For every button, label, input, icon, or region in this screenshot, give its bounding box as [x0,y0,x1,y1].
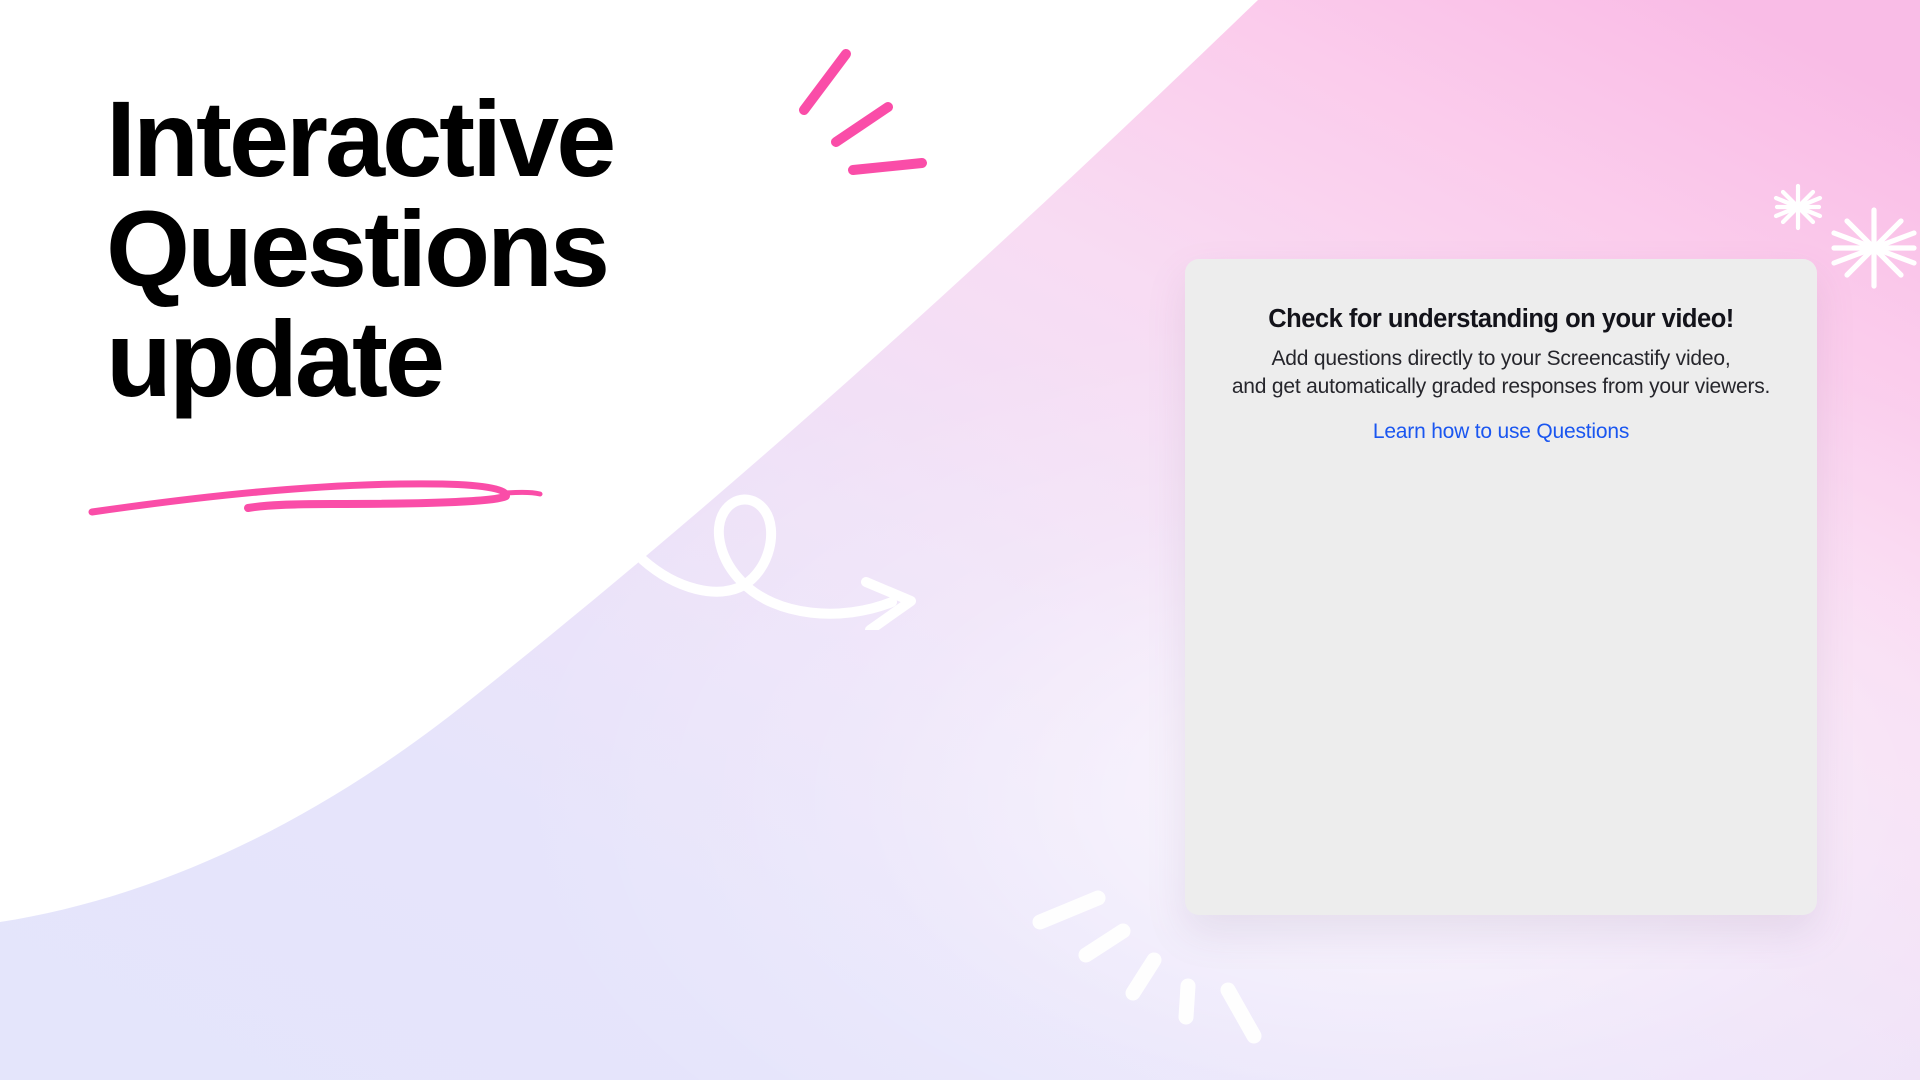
card-subtext: Add questions directly to your Screencas… [1185,345,1817,401]
white-looped-arrow-icon [630,490,950,630]
card-heading: Check for understanding on your video! [1185,305,1817,334]
promo-banner: Interactive Questions update [0,0,1920,1080]
promo-card: Check for understanding on your video! A… [1185,259,1817,915]
page-title: Interactive Questions update [106,84,866,414]
pink-underline-swoosh-icon [70,460,570,530]
learn-how-link[interactable]: Learn how to use Questions [1185,420,1817,444]
